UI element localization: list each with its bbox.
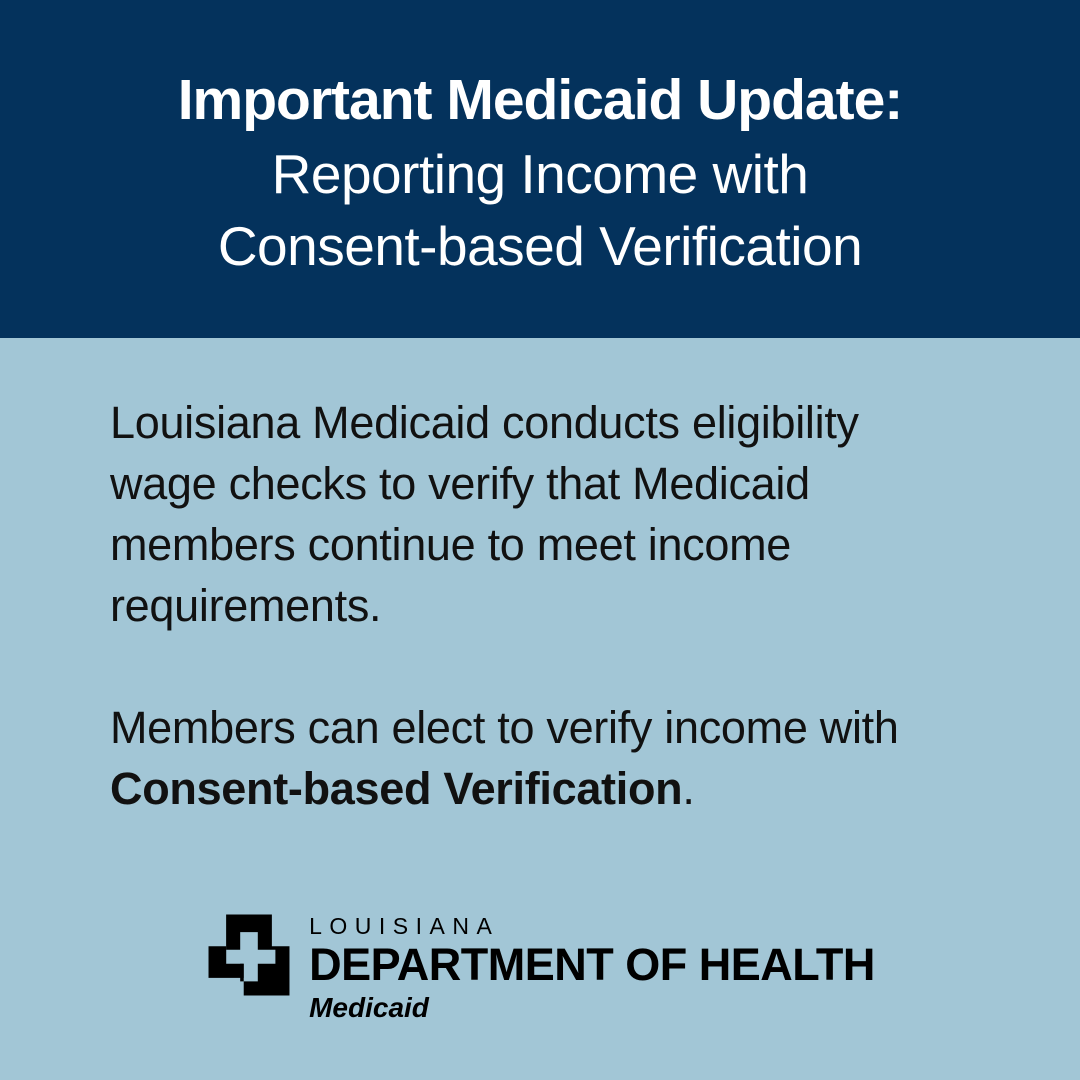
body-area: Louisiana Medicaid conducts eligibility … bbox=[0, 338, 1080, 1080]
paragraph-2-emphasis: Consent-based Verification bbox=[110, 763, 682, 814]
body-paragraph-1: Louisiana Medicaid conducts eligibility … bbox=[110, 392, 970, 636]
paragraph-2-trailing-text: . bbox=[682, 763, 694, 814]
poster-canvas: Important Medicaid Update: Reporting Inc… bbox=[0, 0, 1080, 1080]
title-line-1: Important Medicaid Update: bbox=[178, 72, 903, 129]
logo-text-block: LOUISIANA DEPARTMENT OF HEALTH Medicaid bbox=[309, 903, 875, 1022]
logo-lockup: LOUISIANA DEPARTMENT OF HEALTH Medicaid bbox=[0, 903, 1080, 1022]
header-band: Important Medicaid Update: Reporting Inc… bbox=[0, 0, 1080, 338]
title-line-3: Consent-based Verification bbox=[218, 219, 862, 274]
logo-line-department: DEPARTMENT OF HEALTH bbox=[309, 942, 875, 987]
paragraph-2-lead-text: Members can elect to verify income with bbox=[110, 702, 899, 753]
logo-line-louisiana: LOUISIANA bbox=[309, 915, 499, 938]
title-line-2: Reporting Income with bbox=[272, 147, 809, 202]
body-paragraph-2: Members can elect to verify income with … bbox=[110, 697, 970, 819]
medical-cross-icon bbox=[205, 911, 293, 999]
logo-line-medicaid: Medicaid bbox=[309, 994, 429, 1022]
